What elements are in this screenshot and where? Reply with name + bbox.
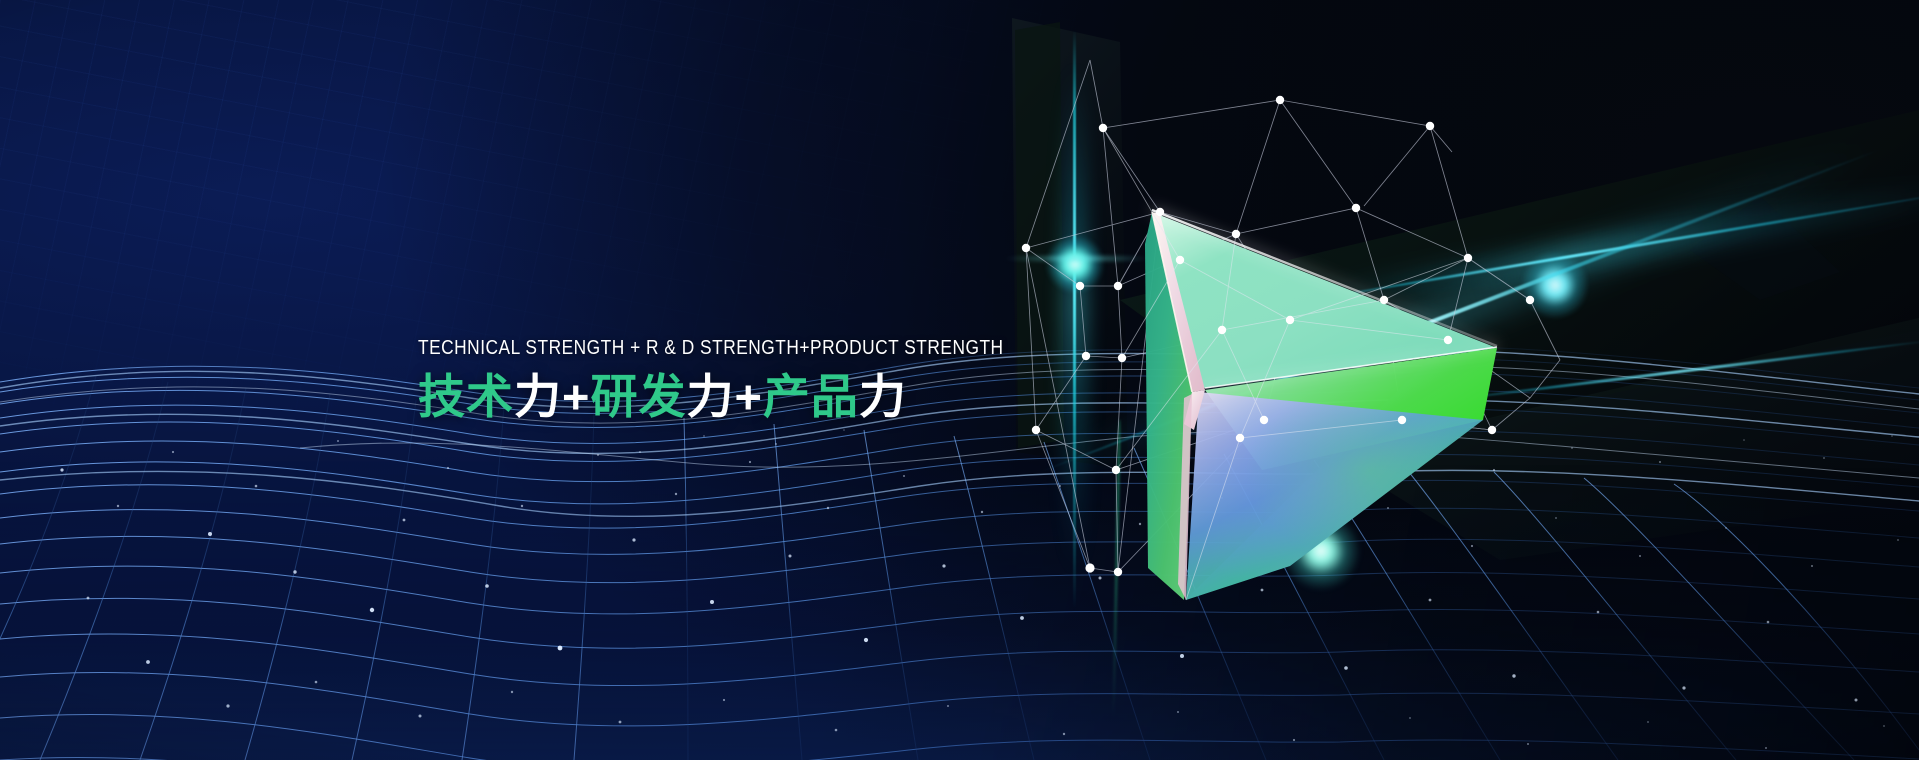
headline-title-chinese: 技术力+研发力+产品力	[418, 371, 1058, 423]
title-segment-6: 产品	[763, 370, 859, 423]
hero-banner: TECHNICAL STRENGTH + R & D STRENGTH+PROD…	[0, 0, 1919, 760]
headline-block: TECHNICAL STRENGTH + R & D STRENGTH+PROD…	[418, 338, 1058, 422]
title-segment-3: 研发	[590, 370, 686, 423]
prism-front-irid-green	[1186, 392, 1483, 600]
headline-eyebrow-english: TECHNICAL STRENGTH + R & D STRENGTH+PROD…	[418, 338, 959, 359]
title-segment-0: 技术	[418, 370, 514, 423]
title-segment-5: +	[734, 370, 762, 423]
title-segment-1: 力	[514, 370, 562, 423]
title-segment-4: 力	[686, 370, 734, 423]
title-segment-2: +	[562, 370, 590, 423]
title-segment-7: 力	[859, 370, 907, 423]
